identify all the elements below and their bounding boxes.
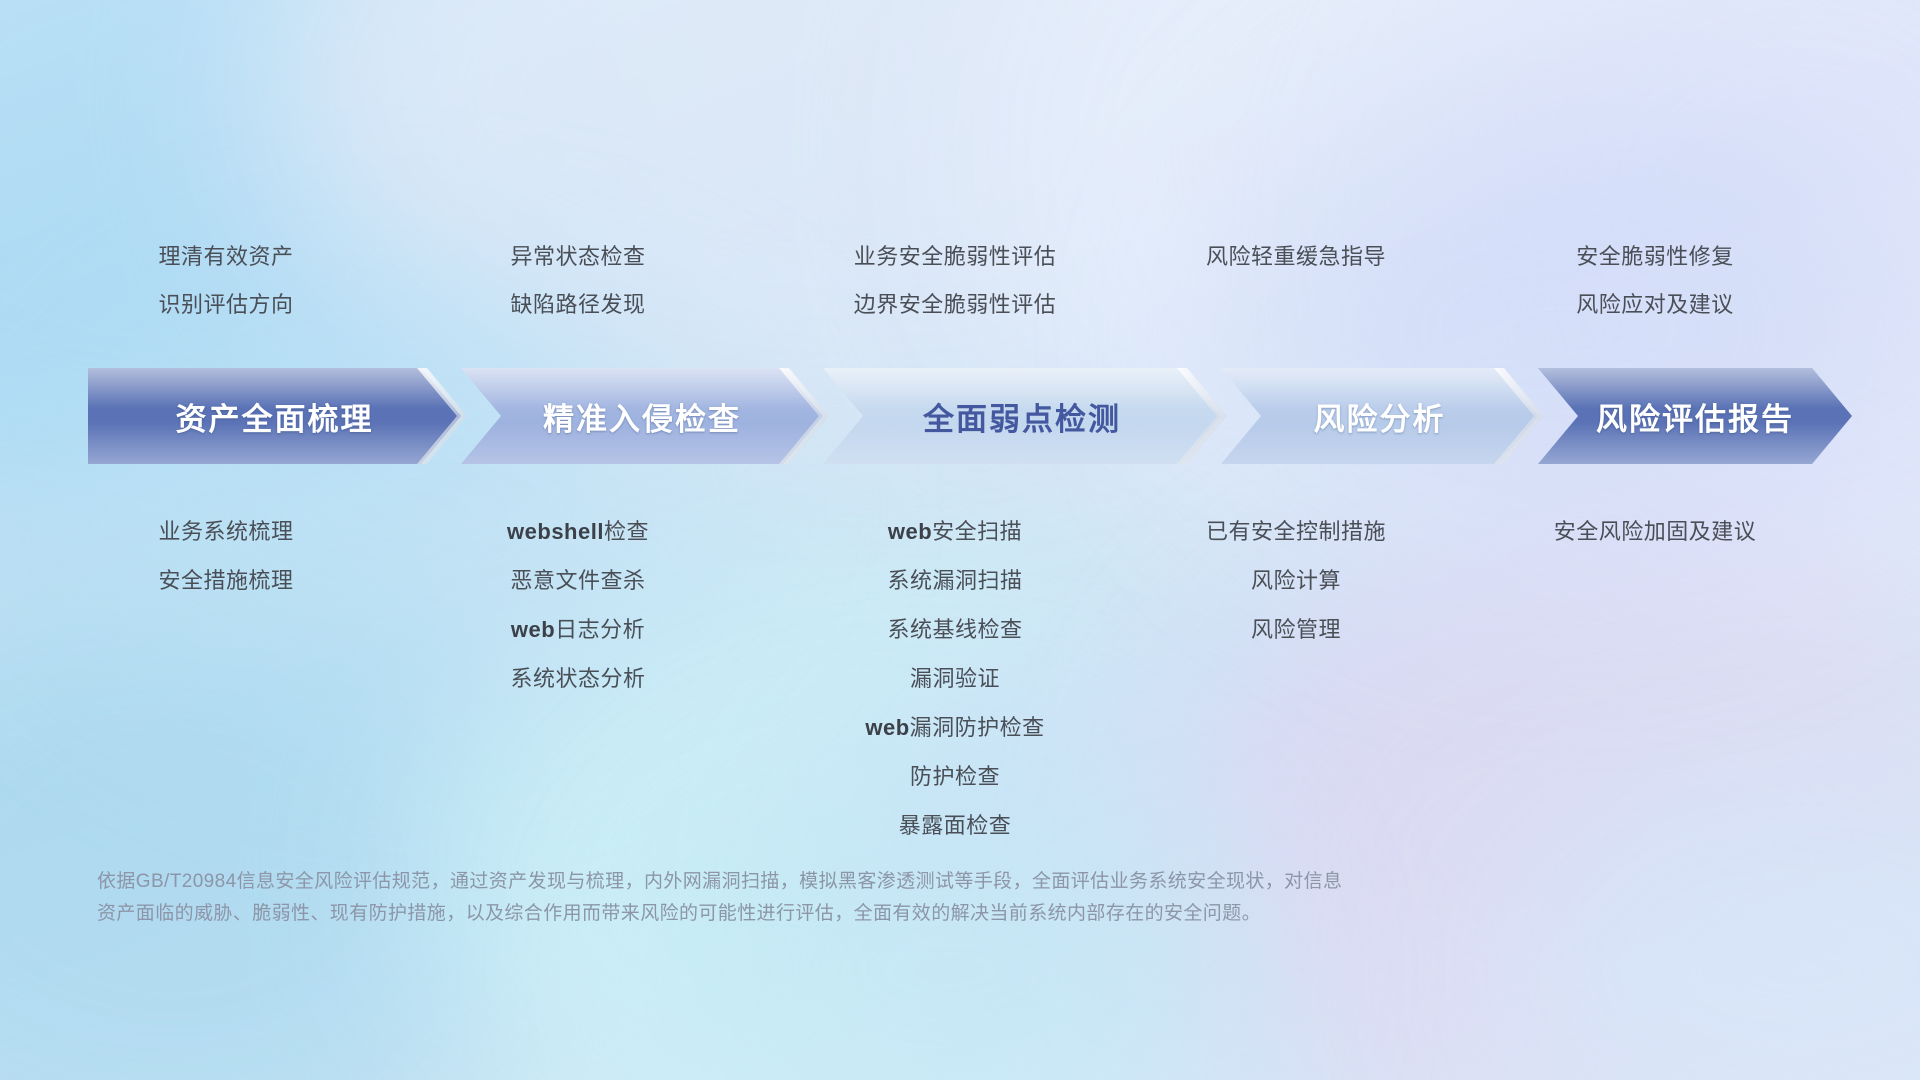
chevron-label: 风险分析	[1314, 394, 1446, 439]
list-item: 风险管理	[1076, 605, 1516, 654]
chevron-stage-intrusion-check[interactable]: 精准入侵检查	[461, 368, 823, 464]
process-diagram: 理清有效资产识别评估方向异常状态检查缺陷路径发现业务安全脆弱性评估边界安全脆弱性…	[0, 0, 1920, 1080]
list-item: 边界安全脆弱性评估	[745, 281, 1165, 329]
stage-bottom-list-intrusion-check: webshell检查恶意文件查杀web日志分析系统状态分析	[358, 507, 798, 703]
footer-description: 依据GB/T20984信息安全风险评估规范，通过资产发现与梳理，内外网漏洞扫描，…	[97, 866, 1657, 930]
list-item: web日志分析	[358, 605, 798, 654]
latin-token: webshell	[507, 519, 604, 544]
list-item: 安全风险加固及建议	[1435, 507, 1875, 556]
chevron-label: 精准入侵检查	[543, 394, 741, 439]
stage-top-list-risk-analysis: 风险轻重缓急指导	[1086, 233, 1506, 281]
chevron-stage-risk-report[interactable]: 风险评估报告	[1538, 368, 1852, 464]
latin-token: web	[865, 715, 909, 740]
chevron-stage-asset-inventory[interactable]: 资产全面梳理	[88, 368, 461, 464]
list-item: 风险轻重缓急指导	[1086, 233, 1506, 281]
chevron-process-bar: 资产全面梳理精准入侵检查全面弱点检测风险分析风险评估报告	[88, 368, 1852, 464]
stage-top-list-risk-report: 安全脆弱性修复风险应对及建议	[1445, 233, 1865, 329]
list-item: web漏洞防护检查	[735, 703, 1175, 752]
chevron-label: 全面弱点检测	[923, 394, 1121, 439]
chevron-label: 风险评估报告	[1596, 394, 1794, 439]
stage-top-list-intrusion-check: 异常状态检查缺陷路径发现	[368, 233, 788, 329]
list-item: 风险应对及建议	[1445, 281, 1865, 329]
list-item: 恶意文件查杀	[358, 556, 798, 605]
footer-line-1: 依据GB/T20984信息安全风险评估规范，通过资产发现与梳理，内外网漏洞扫描，…	[97, 866, 1657, 898]
chevron-label: 资产全面梳理	[176, 394, 374, 439]
latin-token: web	[888, 519, 932, 544]
list-item: 风险计算	[1076, 556, 1516, 605]
chevron-stage-risk-analysis[interactable]: 风险分析	[1221, 368, 1538, 464]
list-item: 漏洞验证	[735, 654, 1175, 703]
list-item: 防护检查	[735, 752, 1175, 801]
list-item: 异常状态检查	[368, 233, 788, 281]
latin-token: web	[511, 617, 555, 642]
list-item: 暴露面检查	[735, 801, 1175, 850]
footer-line-2: 资产面临的威胁、脆弱性、现有防护措施，以及综合作用而带来风险的可能性进行评估，全…	[97, 898, 1657, 930]
list-item: webshell检查	[358, 507, 798, 556]
chevron-stage-weakness-detection[interactable]: 全面弱点检测	[823, 368, 1221, 464]
list-item: 缺陷路径发现	[368, 281, 788, 329]
stage-bottom-list-risk-report: 安全风险加固及建议	[1435, 507, 1875, 556]
list-item: 系统状态分析	[358, 654, 798, 703]
list-item: 安全脆弱性修复	[1445, 233, 1865, 281]
